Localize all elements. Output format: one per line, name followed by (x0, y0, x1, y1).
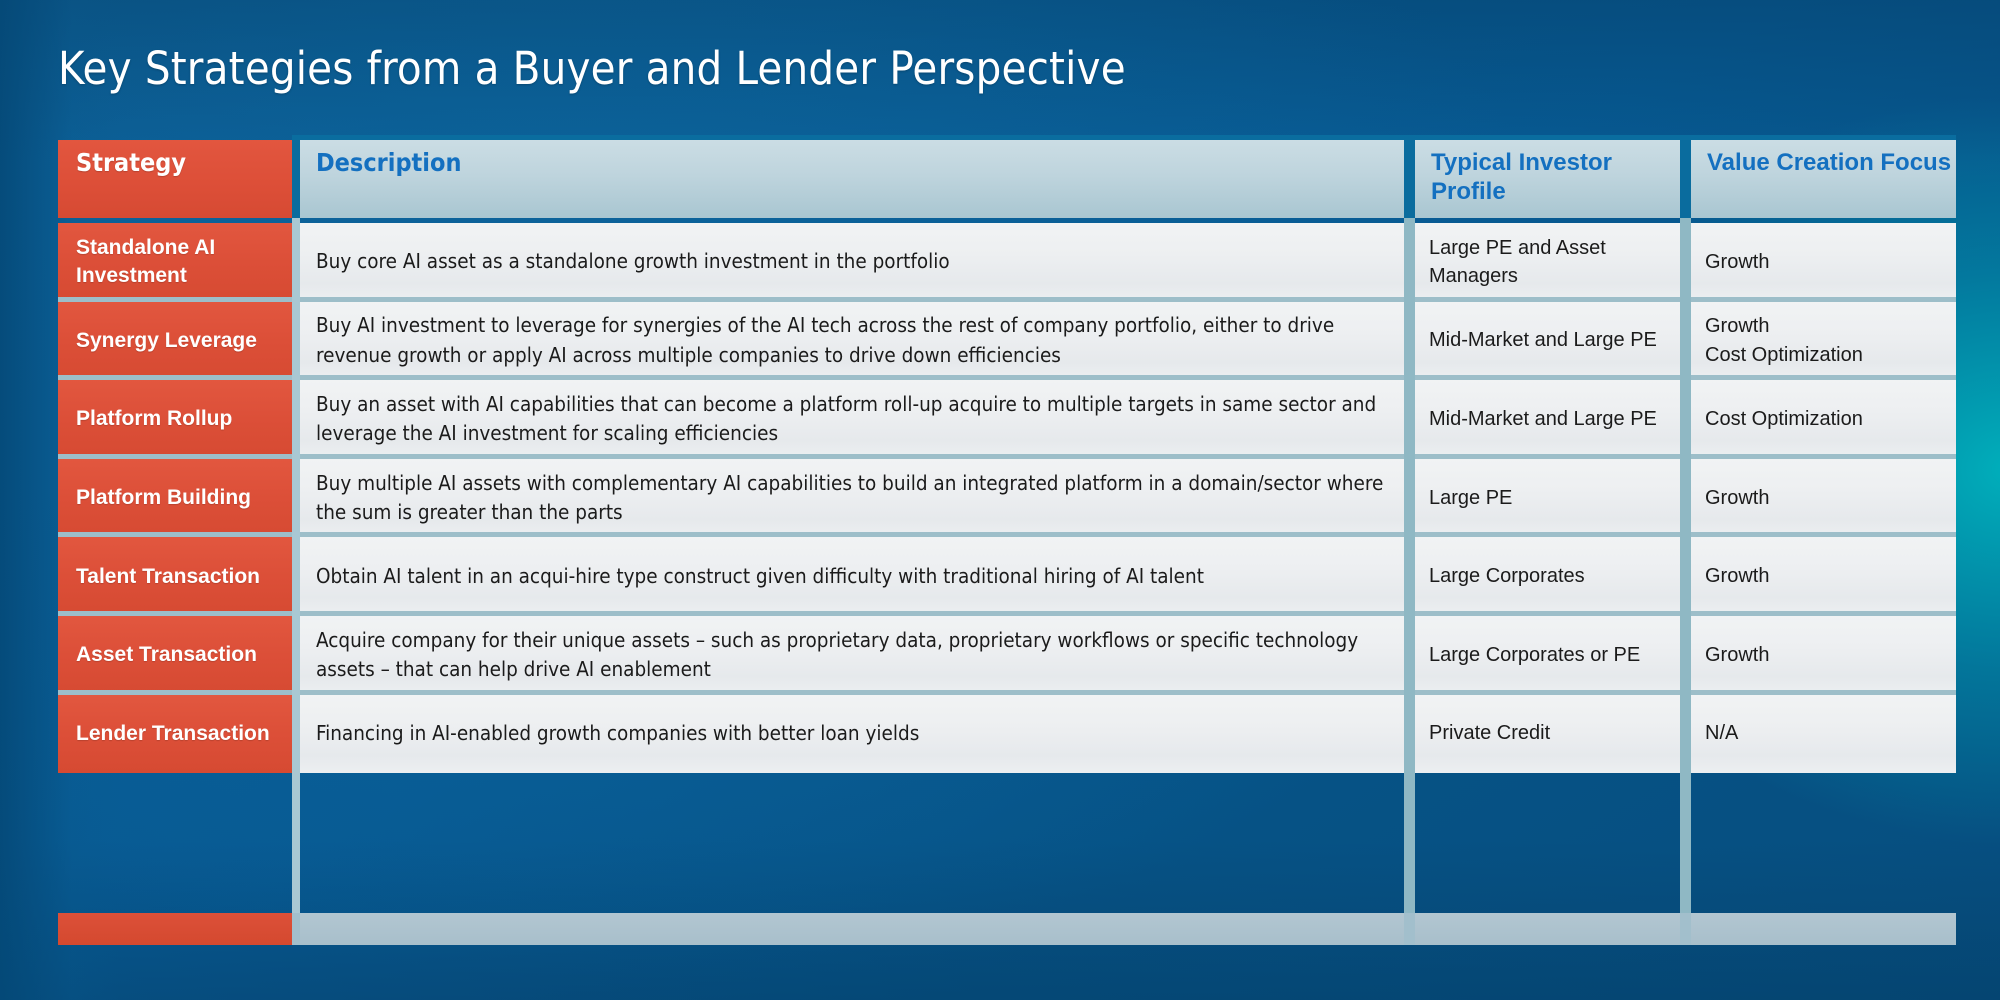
row-gap-2 (1404, 302, 1415, 380)
cell-description: Buy core AI asset as a standalone growth… (300, 223, 1404, 301)
cell-investor-profile: Mid-Market and Large PE (1415, 302, 1680, 380)
row-gap-2 (1404, 695, 1415, 773)
row-gap-1 (292, 380, 300, 458)
row-gap-1 (292, 695, 300, 773)
column-gap-1 (292, 140, 300, 218)
cell-strategy: Synergy Leverage (58, 302, 292, 380)
footer-focus-cell (1691, 913, 1956, 945)
row-gap-1 (292, 302, 300, 380)
column-header-description: Description (300, 140, 1404, 218)
row-gap-2 (1404, 616, 1415, 694)
strategies-table: Strategy Description Typical Investor Pr… (58, 140, 1956, 945)
table-header-row: Strategy Description Typical Investor Pr… (58, 140, 1956, 218)
footer-gap-3 (1680, 913, 1691, 945)
row-gap-2 (1404, 380, 1415, 458)
row-gap-2 (1404, 537, 1415, 615)
row-gap-3 (1680, 302, 1691, 380)
cell-description: Buy an asset with AI capabilities that c… (300, 380, 1404, 458)
cell-strategy: Talent Transaction (58, 537, 292, 615)
row-gap-2 (1404, 223, 1415, 301)
table-row: Lender TransactionFinancing in AI-enable… (58, 695, 1956, 773)
footer-description-cell (300, 913, 1404, 945)
row-gap-3 (1680, 380, 1691, 458)
footer-profile-cell (1415, 913, 1680, 945)
column-header-investor-profile: Typical Investor Profile (1415, 140, 1680, 218)
cell-value-creation-focus: Growth (1691, 459, 1956, 537)
table-row: Asset TransactionAcquire company for the… (58, 616, 1956, 694)
table-row: Platform BuildingBuy multiple AI assets … (58, 459, 1956, 537)
footer-strategy-cell (58, 913, 292, 945)
row-gap-3 (1680, 223, 1691, 301)
cell-strategy: Platform Rollup (58, 380, 292, 458)
cell-investor-profile: Large PE and Asset Managers (1415, 223, 1680, 301)
cell-description: Obtain AI talent in an acqui-hire type c… (300, 537, 1404, 615)
cell-strategy: Lender Transaction (58, 695, 292, 773)
cell-strategy: Platform Building (58, 459, 292, 537)
cell-value-creation-focus: GrowthCost Optimization (1691, 302, 1956, 380)
cell-value-creation-focus: Growth (1691, 223, 1956, 301)
cell-investor-profile: Large PE (1415, 459, 1680, 537)
row-gap-3 (1680, 695, 1691, 773)
column-header-strategy: Strategy (58, 140, 292, 218)
cell-description: Buy multiple AI assets with complementar… (300, 459, 1404, 537)
cell-value-creation-focus: Growth (1691, 616, 1956, 694)
cell-investor-profile: Mid-Market and Large PE (1415, 380, 1680, 458)
page-title: Key Strategies from a Buyer and Lender P… (58, 42, 1126, 95)
column-gap-2 (1404, 140, 1415, 218)
cell-investor-profile: Large Corporates or PE (1415, 616, 1680, 694)
footer-gap-1 (292, 913, 300, 945)
cell-description: Financing in AI-enabled growth companies… (300, 695, 1404, 773)
row-gap-1 (292, 537, 300, 615)
cell-strategy: Asset Transaction (58, 616, 292, 694)
table-row: Synergy LeverageBuy AI investment to lev… (58, 302, 1956, 380)
cell-investor-profile: Private Credit (1415, 695, 1680, 773)
column-header-value-creation-focus: Value Creation Focus (1691, 140, 1956, 218)
cell-value-creation-focus: N/A (1691, 695, 1956, 773)
column-gap-3 (1680, 140, 1691, 218)
row-gap-3 (1680, 616, 1691, 694)
table-footer-strip (58, 913, 1956, 945)
row-gap-1 (292, 459, 300, 537)
table-row: Platform RollupBuy an asset with AI capa… (58, 380, 1956, 458)
table-row: Standalone AI InvestmentBuy core AI asse… (58, 223, 1956, 301)
row-gap-3 (1680, 459, 1691, 537)
table-row: Talent TransactionObtain AI talent in an… (58, 537, 1956, 615)
footer-gap-2 (1404, 913, 1415, 945)
cell-investor-profile: Large Corporates (1415, 537, 1680, 615)
cell-description: Buy AI investment to leverage for synerg… (300, 302, 1404, 380)
row-gap-3 (1680, 537, 1691, 615)
row-gap-2 (1404, 459, 1415, 537)
row-gap-1 (292, 223, 300, 301)
cell-strategy: Standalone AI Investment (58, 223, 292, 301)
row-gap-1 (292, 616, 300, 694)
cell-description: Acquire company for their unique assets … (300, 616, 1404, 694)
cell-value-creation-focus: Cost Optimization (1691, 380, 1956, 458)
cell-value-creation-focus: Growth (1691, 537, 1956, 615)
